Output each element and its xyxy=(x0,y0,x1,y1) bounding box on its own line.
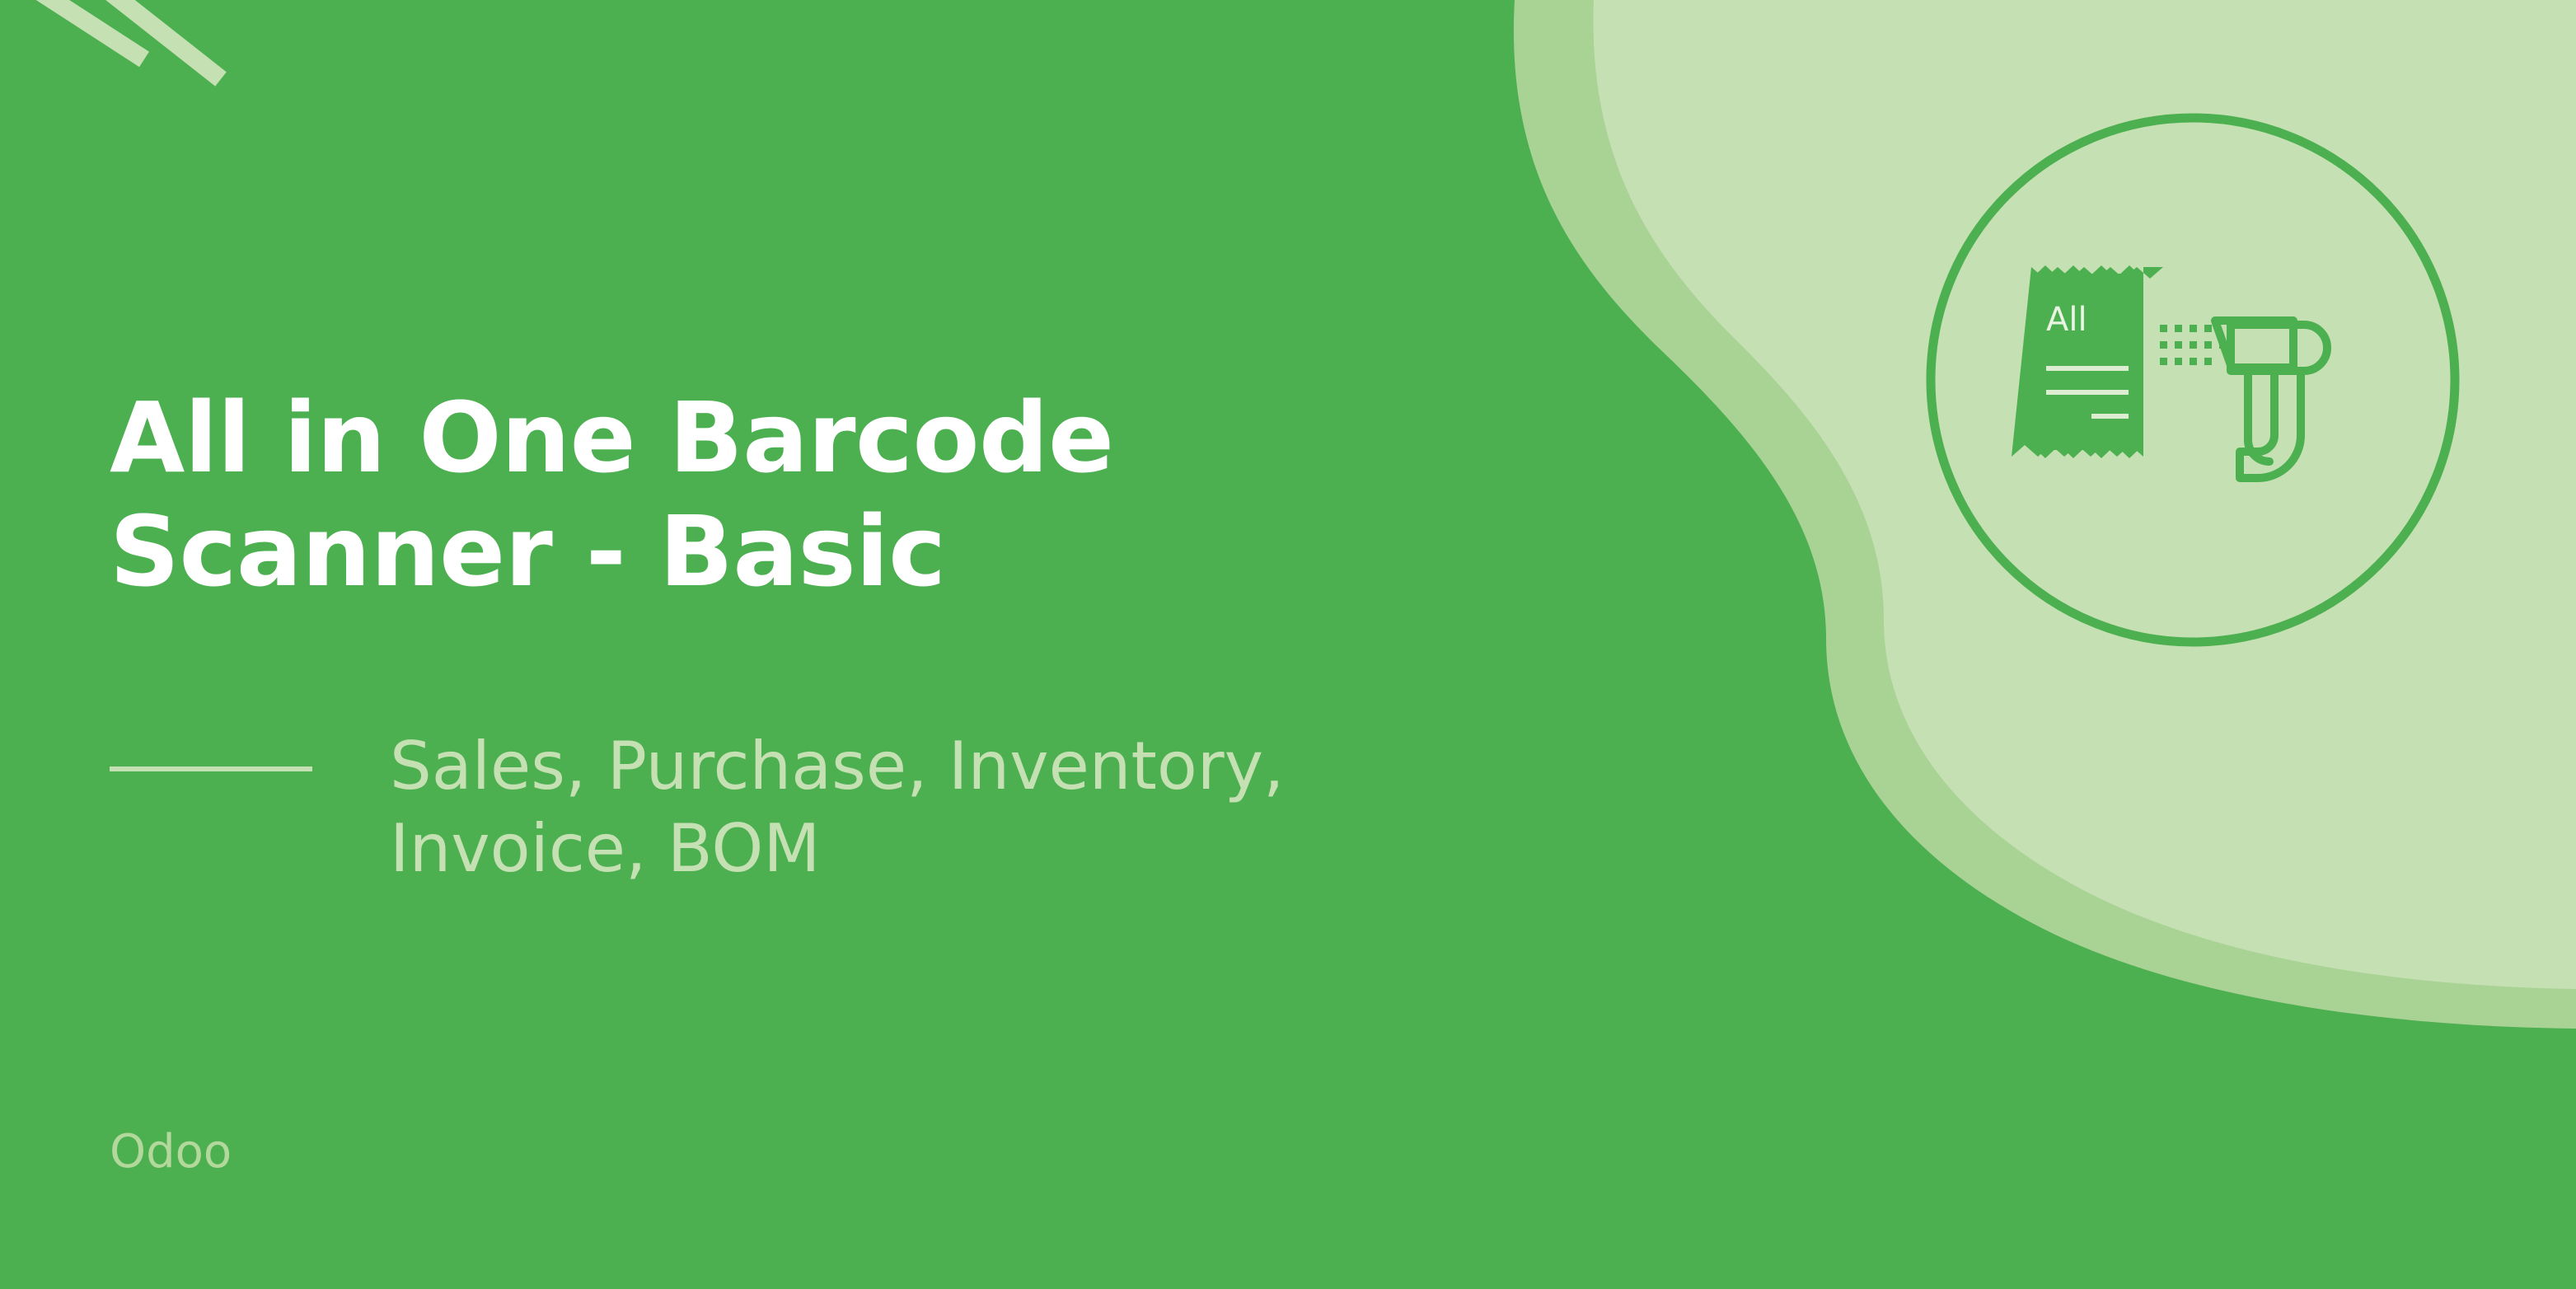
brand-label: Odoo xyxy=(110,1125,232,1179)
subtitle: Sales, Purchase, Inventory, Invoice, BOM xyxy=(390,725,1725,890)
barcode-scanner-gun-icon xyxy=(2215,321,2327,478)
badge-ring xyxy=(1931,118,2455,642)
subtitle-row: Sales, Purchase, Inventory, Invoice, BOM xyxy=(110,725,1725,890)
receipt-line-3 xyxy=(2091,414,2129,419)
page-title: All in One Barcode Scanner - Basic xyxy=(110,381,1560,608)
promo-banner: All xyxy=(0,0,2576,1289)
subtitle-divider xyxy=(110,766,312,771)
barcode-scanner-badge: All xyxy=(1925,112,2461,648)
banner-content: All in One Barcode Scanner - Basic Sales… xyxy=(110,0,1799,1289)
receipt-icon: All xyxy=(2012,265,2163,458)
receipt-line-2 xyxy=(2046,390,2129,395)
receipt-line-1 xyxy=(2046,366,2129,371)
receipt-label: All xyxy=(2046,301,2087,339)
